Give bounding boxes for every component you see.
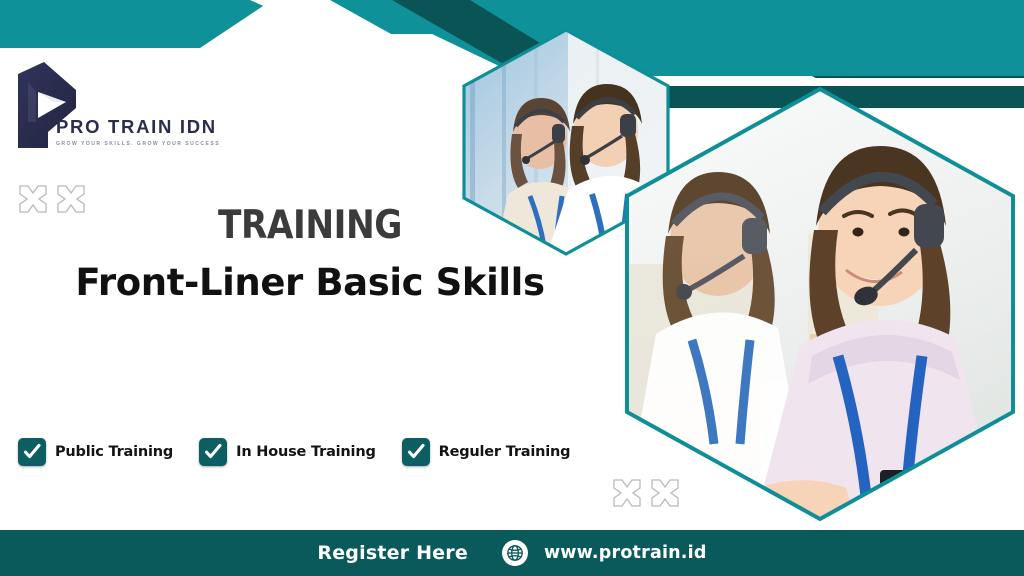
website-link[interactable]: www.protrain.id: [502, 540, 707, 566]
brand-logo[interactable]: PRO TRAIN IDN GROW YOUR SKILLS. GROW YOU…: [14, 62, 214, 162]
brand-logo-text: PRO TRAIN IDN GROW YOUR SKILLS. GROW YOU…: [56, 118, 226, 147]
checkbox-checked-icon[interactable]: [199, 438, 227, 466]
option-public-training[interactable]: Public Training: [18, 438, 173, 466]
poster-canvas: PRO TRAIN IDN GROW YOUR SKILLS. GROW YOU…: [0, 0, 1024, 576]
brand-logo-tagline: GROW YOUR SKILLS. GROW YOUR SUCCESS: [56, 142, 226, 147]
brand-logo-name: PRO TRAIN IDN: [56, 118, 226, 137]
call-center-agents-hexagon-large: [622, 84, 1018, 524]
option-reguler-training[interactable]: Reguler Training: [402, 438, 571, 466]
page-title: Front-Liner Basic Skills: [0, 263, 620, 304]
option-in-house-training[interactable]: In House Training: [199, 438, 376, 466]
option-label: In House Training: [236, 444, 376, 460]
register-here-label[interactable]: Register Here: [317, 542, 468, 564]
option-label: Reguler Training: [439, 444, 571, 460]
banner-shape-light-left: [0, 0, 272, 48]
checkbox-checked-icon[interactable]: [402, 438, 430, 466]
website-url: www.protrain.id: [544, 543, 707, 563]
footer-bar: Register Here www.protrain.id: [0, 530, 1024, 576]
globe-icon: [502, 540, 528, 566]
checkbox-checked-icon[interactable]: [18, 438, 46, 466]
option-label: Public Training: [55, 444, 173, 460]
training-options-row: Public Training In House Training Regule…: [18, 438, 570, 466]
